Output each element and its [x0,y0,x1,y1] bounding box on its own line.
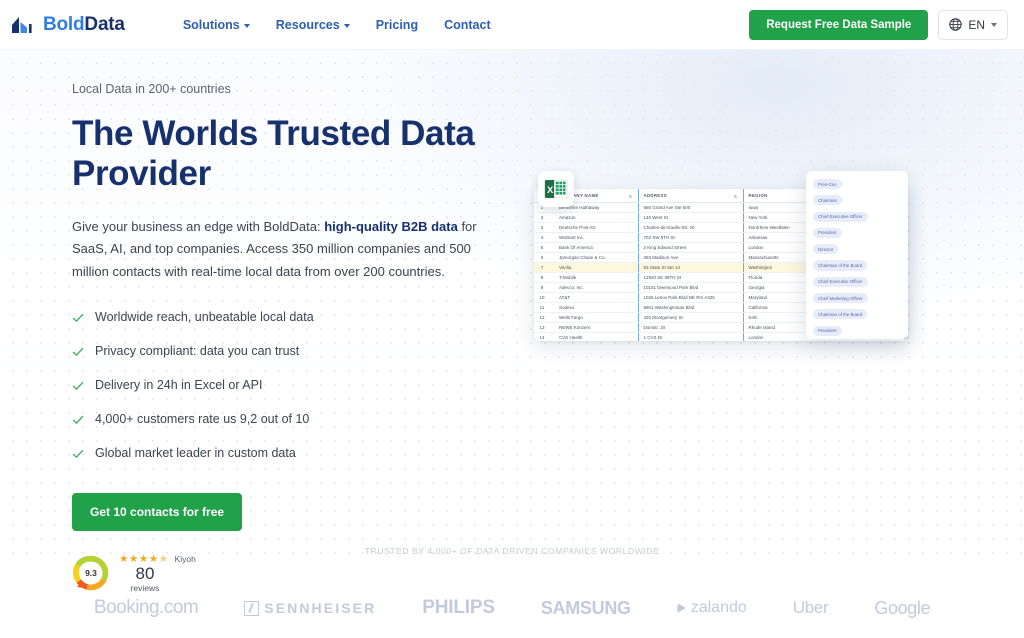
cell-company: Veolia [554,263,638,273]
cell-company: Sodexo [554,303,638,313]
cell-company: Walmart Inc. [554,233,638,243]
svg-text:X: X [547,184,554,195]
hero-eyebrow: Local Data in 200+ countries [72,82,1024,96]
job-title-pill[interactable]: Director [813,244,838,254]
hero-section: Local Data in 200+ countries The Worlds … [0,50,1024,638]
nav-label-solutions: Solutions [183,18,240,32]
cell-company: Adecco, Inc. [554,283,638,293]
get-contacts-free-button[interactable]: Get 10 contacts for free [72,493,242,531]
cell-address: 10151 Deerwood Park Blvd [638,283,743,293]
nav-label-pricing: Pricing [376,18,418,32]
main-navigation: Solutions Resources Pricing Contact [183,18,491,32]
check-icon [72,379,84,391]
brand-logo[interactable]: BoldData [10,13,125,37]
cell-index: 8 [534,273,554,283]
language-label: EN [968,18,985,32]
logo-samsung: SAMSUNG [541,598,631,619]
feature-label: 4,000+ customers rate us 9,2 out of 10 [95,412,309,426]
brand-name-data: Data [84,14,124,35]
hero-description-before: Give your business an edge with BoldData… [72,219,324,234]
cell-index: 13 [534,323,554,333]
cell-company: AT&T [554,293,638,303]
cell-index: 3 [534,223,554,233]
cell-address: 53 State St Ste 14 [638,263,743,273]
list-item: Delivery in 24h in Excel or API [72,373,1024,397]
cell-address: 9801 Washingtonian Blvd [638,303,743,313]
cell-address: 2 King Edward Street [638,243,743,253]
brand-name: BoldData [43,14,125,36]
list-item: Global market leader in custom data [72,441,1024,465]
job-title-pill[interactable]: Pres-Ceo [813,179,842,189]
header-actions: Request Free Data Sample EN [749,10,1008,40]
nav-label-resources: Resources [276,18,340,32]
job-title-pill[interactable]: Chairman of the Board [813,309,867,319]
cell-company: Deutsche Post AG [554,223,638,233]
cell-index: 9 [534,283,554,293]
feature-label: Worldwide reach, unbeatable local data [95,310,314,324]
cell-index: 5 [534,243,554,253]
cell-address: 1 CVS Dr [638,333,743,342]
cell-company: Wells Fargo [554,313,638,323]
nav-item-solutions[interactable]: Solutions [183,18,250,32]
cell-company: Bank Of America [554,243,638,253]
job-title-pill[interactable]: President [813,326,842,336]
cell-company: Jpmorgan Chase & Co. [554,253,638,263]
hero-description-highlight: high-quality B2B data [324,219,458,234]
cell-index: 2 [534,213,554,223]
job-title-pill[interactable]: Chief Marketing Officer [813,293,868,303]
site-header: BoldData Solutions Resources Pricing Con… [0,0,1024,50]
cell-company: Amazon [554,213,638,223]
sort-icon[interactable]: ⇅ [734,194,738,199]
bar-chart-logo-icon [10,13,36,37]
cell-index: 14 [534,333,554,342]
cell-index: 4 [534,233,554,243]
sennheiser-mark-icon [244,601,259,616]
list-item: Privacy compliant: data you can trust [72,339,1024,363]
check-icon [72,413,84,425]
logo-sennheiser: SENNHEISER [244,600,376,616]
job-title-pill[interactable]: President [813,228,842,238]
logo-zalando: zalando [677,599,747,617]
cell-address: 140 West St [638,213,743,223]
job-titles-popover: Pres-CeoChairmanChief Executive OfficerP… [806,171,908,339]
feature-label: Privacy compliant: data you can trust [95,344,299,358]
nav-item-pricing[interactable]: Pricing [376,18,418,32]
cell-index: 10 [534,293,554,303]
page-title: The Worlds Trusted Data Provider [72,114,502,194]
list-item: 4,000+ customers rate us 9,2 out of 10 [72,407,1024,431]
request-free-data-sample-button[interactable]: Request Free Data Sample [749,10,928,40]
cell-index: 7 [534,263,554,273]
feature-label: Delivery in 24h in Excel or API [95,378,262,392]
hero-description: Give your business an edge with BoldData… [72,216,487,283]
trusted-caption: TRUSTED BY 4,000+ OF DATA DRIVEN COMPANI… [0,546,1024,556]
cell-address: 12920 SE 38TH St [638,273,743,283]
job-title-pill[interactable]: Chief Executive Officer [813,212,868,222]
zalando-mark-icon [677,603,686,614]
cell-index: 12 [534,313,554,323]
nav-item-contact[interactable]: Contact [444,18,491,32]
job-title-pill[interactable]: Chairman of the Board [813,260,867,270]
sort-icon[interactable]: ⇅ [629,194,633,199]
cell-index: 11 [534,303,554,313]
cell-address: 666 Grand Ave Ste 500 [638,203,743,213]
check-icon [72,345,84,357]
excel-file-icon: X [538,171,574,207]
cell-address: 702 SW 8TH St [638,233,743,243]
cell-address: 420 Montgomery St [638,313,743,323]
cell-address: 383 Madison Ave [638,253,743,263]
logo-philips: PHILIPS [422,597,495,619]
chevron-down-icon [344,24,350,28]
cell-address: Domstr. 20 [638,323,743,333]
language-selector[interactable]: EN [938,10,1008,40]
brand-name-bold: Bold [43,14,84,35]
cell-company: REWE Konzern [554,323,638,333]
landing-page: BoldData Solutions Resources Pricing Con… [0,0,1024,638]
column-header-address[interactable]: ADDRESS⇅ [638,189,743,203]
nav-item-resources[interactable]: Resources [276,18,350,32]
cell-index: 6 [534,253,554,263]
chevron-down-icon [991,23,997,27]
feature-label: Global market leader in custom data [95,446,296,460]
spreadsheet-preview: COMPANY NAME⇅ ADDRESS⇅ REGION⇅ COUNTRY⇅ … [534,171,908,341]
logo-google: Google [874,598,930,619]
cell-company: CVS Health [554,333,638,342]
job-title-pill[interactable]: Chief Executive Officer [813,277,868,287]
logo-booking: Booking.com [94,597,198,619]
globe-icon [949,18,962,31]
job-title-pill[interactable]: Chairman [813,195,842,205]
check-icon [72,447,84,459]
cell-address: Charles-de-Gaulle-Str. 20 [638,223,743,233]
cell-company: T-Mobile [554,273,638,283]
chevron-down-icon [244,24,250,28]
logo-sennheiser-text: SENNHEISER [264,600,376,616]
logo-zalando-text: zalando [691,599,747,617]
cell-address: 1025 Lenox Park Blvd NE Rm A325 [638,293,743,303]
nav-label-contact: Contact [444,18,491,32]
logo-uber: Uber [793,598,829,618]
client-logos: Booking.com SENNHEISER PHILIPS SAMSUNG z… [0,578,1024,638]
check-icon [72,311,84,323]
